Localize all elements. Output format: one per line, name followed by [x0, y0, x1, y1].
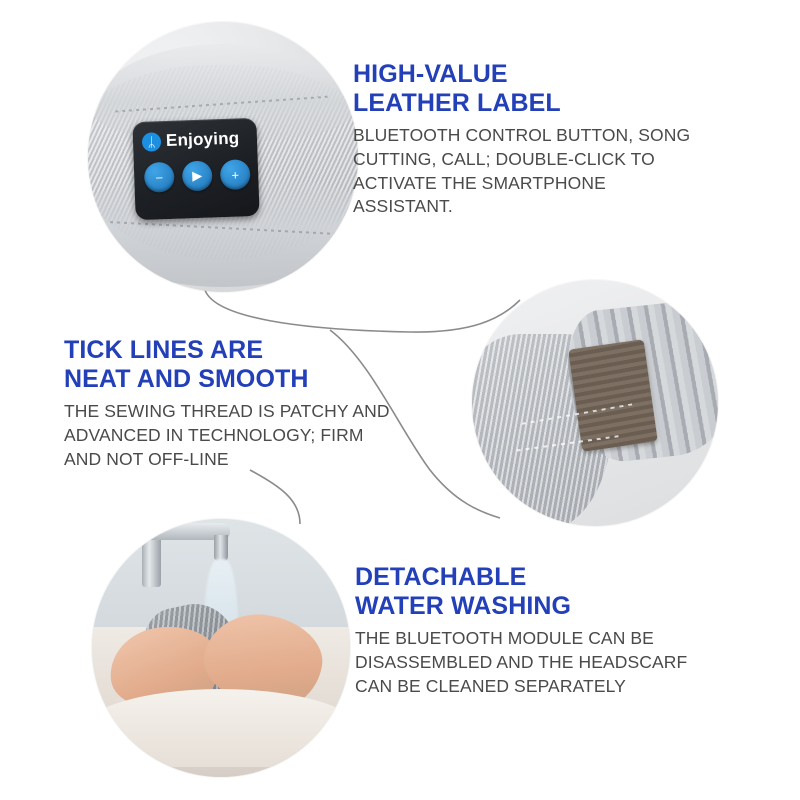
heading-line-2: WATER WASHING: [355, 592, 571, 620]
feature-tick-lines-body: THE SEWING THREAD IS PATCHY AND ADVANCED…: [64, 400, 404, 471]
heading-line-1: HIGH-VALUE: [353, 60, 508, 88]
feature-leather-label: HIGH-VALUE LEATHER LABEL BLUETOOTH CONTR…: [353, 60, 703, 219]
feature-leather-label-heading: HIGH-VALUE LEATHER LABEL: [353, 60, 703, 118]
feature-detachable-washing: DETACHABLE WATER WASHING THE BLUETOOTH M…: [355, 563, 695, 698]
heading-line-2: LEATHER LABEL: [353, 89, 561, 117]
headband-bluetooth-label-photo: ᛦ Enjoying − ▶ +: [88, 22, 358, 292]
heading-line-2: NEAT AND SMOOTH: [64, 365, 309, 393]
heading-line-1: TICK LINES ARE: [64, 336, 263, 364]
bluetooth-button-row: − ▶ +: [133, 148, 258, 193]
elastic-band-stitching-photo: [472, 280, 718, 526]
volume-down-button[interactable]: −: [144, 162, 175, 193]
sink-basin-edge: [92, 689, 350, 766]
bluetooth-brand-row: ᛦ Enjoying: [132, 118, 257, 152]
faucet-spout: [214, 535, 228, 561]
connector-headband-to-stitch: [205, 290, 520, 332]
feature-leather-label-body: BLUETOOTH CONTROL BUTTON, SONG CUTTING, …: [353, 124, 703, 219]
connector-tick-to-wash: [250, 470, 300, 524]
hand-washing-headband-photo: [92, 519, 350, 777]
bluetooth-control-module[interactable]: ᛦ Enjoying − ▶ +: [132, 118, 259, 220]
bluetooth-icon: ᛦ: [142, 132, 162, 152]
feature-tick-lines: TICK LINES ARE NEAT AND SMOOTH THE SEWIN…: [64, 336, 404, 471]
feature-tick-lines-heading: TICK LINES ARE NEAT AND SMOOTH: [64, 336, 404, 394]
feature-detachable-washing-body: THE BLUETOOTH MODULE CAN BE DISASSEMBLED…: [355, 627, 695, 698]
play-pause-button[interactable]: ▶: [182, 160, 213, 191]
volume-up-button[interactable]: +: [220, 159, 251, 190]
feature-detachable-washing-heading: DETACHABLE WATER WASHING: [355, 563, 695, 621]
bluetooth-brand-label: Enjoying: [166, 128, 240, 151]
heading-line-1: DETACHABLE: [355, 563, 526, 591]
